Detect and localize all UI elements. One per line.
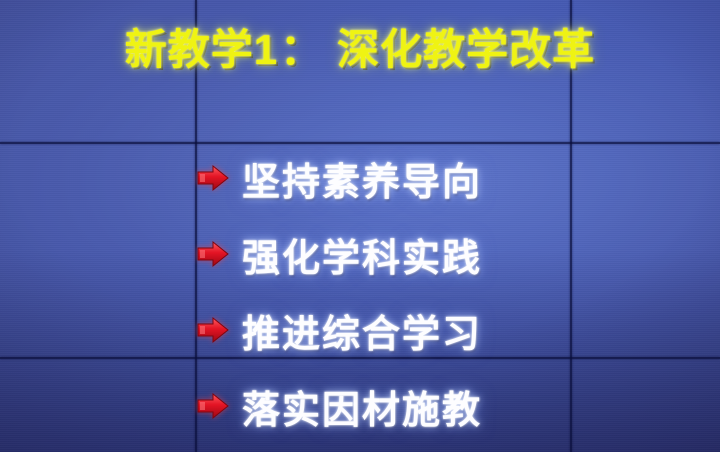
red-right-arrow-icon [196, 240, 230, 268]
bullet-item-label: 推进综合学习 [242, 303, 482, 358]
bullet-list: 坚持素养导向 强化学科实践 [196, 140, 656, 444]
bullet-item-4: 落实因材施教 [196, 368, 656, 444]
bullet-item-label: 强化学科实践 [242, 227, 482, 282]
red-right-arrow-icon [196, 316, 230, 344]
slide-title: 新教学1：深化教学改革 [0, 27, 720, 72]
red-right-arrow-icon [196, 164, 230, 192]
red-right-arrow-icon [196, 392, 230, 420]
slide-title-prefix: 新教学1 [125, 26, 278, 73]
bullet-item-3: 推进综合学习 [196, 292, 656, 368]
slide-content: 新教学1：深化教学改革 坚持素养导向 [0, 0, 720, 452]
bullet-item-label: 落实因材施教 [242, 379, 482, 434]
slide-title-suffix: 深化教学改革 [337, 26, 595, 73]
bullet-item-2: 强化学科实践 [196, 216, 656, 292]
presentation-slide: 新教学1：深化教学改革 坚持素养导向 [0, 0, 720, 452]
bullet-item-label: 坚持素养导向 [242, 151, 482, 206]
slide-title-colon: ： [278, 26, 337, 73]
bullet-item-1: 坚持素养导向 [196, 140, 656, 216]
